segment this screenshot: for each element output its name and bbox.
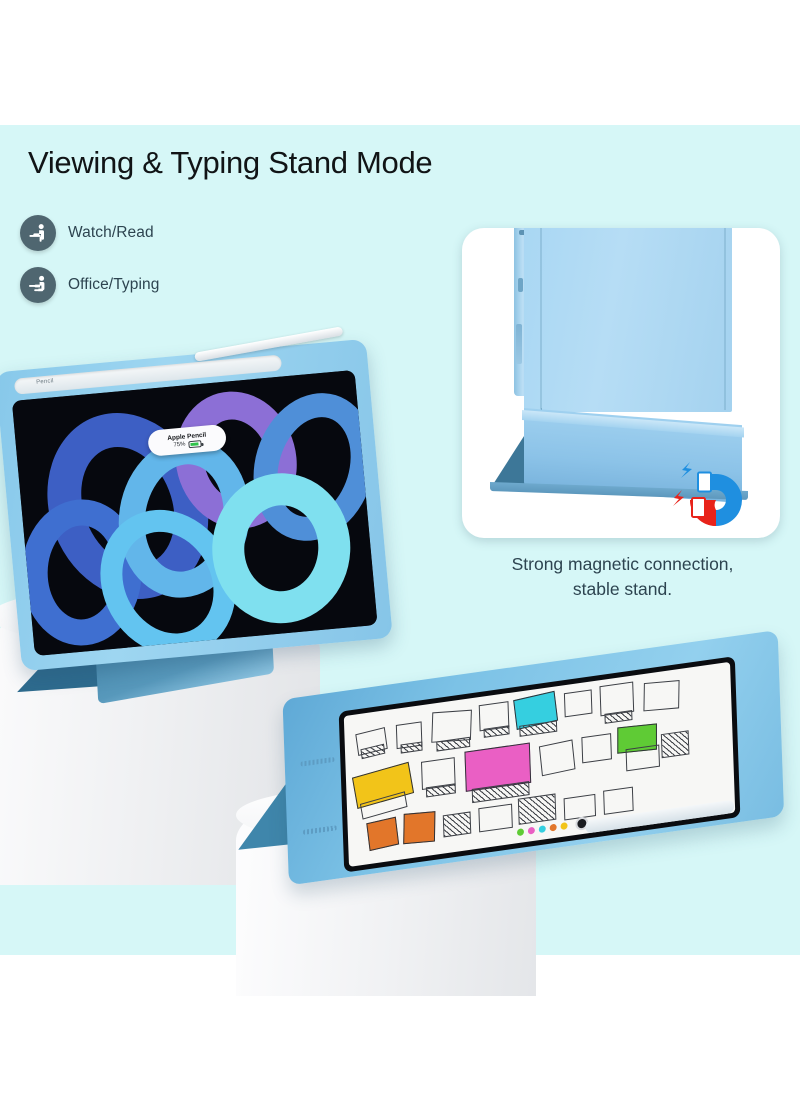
palette-swatch bbox=[550, 824, 557, 832]
tablet-stand-mode: Pencil Apple Pencil 75% bbox=[0, 339, 393, 671]
caption-line-2: stable stand. bbox=[573, 579, 672, 599]
tablet-screen bbox=[339, 656, 741, 872]
person-typing-icon bbox=[20, 267, 56, 303]
palette-swatch bbox=[528, 827, 535, 835]
person-watching-icon bbox=[20, 215, 56, 251]
feature-label: Watch/Read bbox=[68, 224, 154, 242]
palette-swatch bbox=[517, 828, 524, 836]
photo-stand-mode: Pencil Apple Pencil 75% bbox=[0, 355, 420, 715]
tablet-screen: Apple Pencil 75% bbox=[12, 370, 378, 656]
feature-label: Office/Typing bbox=[68, 276, 159, 294]
pencil-slot-label: Pencil bbox=[36, 378, 54, 386]
feature-item-watch-read: Watch/Read bbox=[20, 215, 320, 251]
caption-line-1: Strong magnetic connection, bbox=[512, 554, 734, 574]
fold-seam bbox=[724, 228, 726, 410]
cover-back-panel bbox=[524, 228, 732, 412]
speaker-grille bbox=[303, 825, 337, 835]
palette-swatch bbox=[560, 822, 567, 830]
palette-swatch bbox=[539, 825, 546, 833]
battery-icon bbox=[188, 440, 202, 448]
page-title: Viewing & Typing Stand Mode bbox=[28, 145, 432, 181]
wallpaper bbox=[12, 370, 378, 656]
product-feature-image: Viewing & Typing Stand Mode Watch/Read bbox=[0, 0, 800, 1096]
notification-percent: 75% bbox=[173, 442, 186, 449]
magnetic-connection-inset bbox=[462, 228, 780, 538]
fold-seam bbox=[540, 228, 542, 410]
horseshoe-magnet-icon bbox=[670, 462, 762, 526]
feature-item-office-typing: Office/Typing bbox=[20, 267, 320, 303]
sketch-canvas bbox=[344, 662, 735, 867]
feature-list: Watch/Read Office/Typing bbox=[20, 215, 320, 319]
inset-caption: Strong magnetic connection, stable stand… bbox=[455, 552, 790, 603]
photo-typing-mode bbox=[228, 690, 800, 955]
volume-buttons bbox=[516, 324, 522, 364]
speaker-grille bbox=[301, 757, 335, 767]
